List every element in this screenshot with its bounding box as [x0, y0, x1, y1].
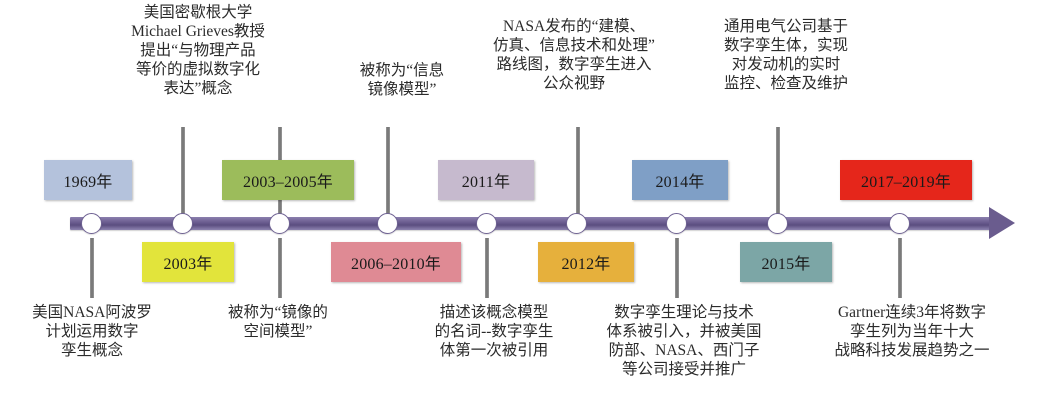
chip-2014[interactable]: 2014年	[632, 160, 728, 200]
timeline-node-2[interactable]	[172, 213, 193, 234]
timeline-node-9[interactable]	[889, 213, 910, 234]
caption-first-cited: 描述该概念模型 的名词--数字孪生 体第一次被引用	[404, 304, 584, 361]
timeline-node-5[interactable]	[476, 213, 497, 234]
caption-gartner: Gartner连续3年将数字 孪生列为当年十大 战略科技发展趋势之一	[798, 304, 1026, 361]
stem-ge-engine	[776, 127, 780, 215]
chip-1969[interactable]: 1969年	[44, 160, 132, 200]
caption-mirror-space-model: 被称为“镜像的 空间模型”	[192, 304, 364, 342]
chip-2017-2019[interactable]: 2017–2019年	[840, 160, 972, 200]
caption-grieves: 美国密歇根大学 Michael Grieves教授 提出“与物理产品 等价的虚拟…	[88, 4, 308, 99]
stem-grieves	[181, 127, 185, 215]
timeline-node-7[interactable]	[666, 213, 687, 234]
stem-gartner	[898, 238, 902, 298]
caption-theory-adoption: 数字孪生理论与技术 体系被引入，并被美国 防部、NASA、西门子 等公司接受并推…	[578, 304, 790, 380]
timeline-node-4[interactable]	[377, 213, 398, 234]
stem-first-cited	[485, 238, 489, 298]
timeline-node-1[interactable]	[81, 213, 102, 234]
caption-ge-engine: 通用电气公司基于 数字孪生体，实现 对发动机的实时 监控、检查及维护	[690, 18, 882, 94]
stem-nasa-roadmap	[386, 127, 390, 215]
timeline-node-6[interactable]	[566, 213, 587, 234]
stem-theory	[675, 238, 679, 298]
chip-2012[interactable]: 2012年	[538, 242, 634, 282]
stem-apollo	[90, 238, 94, 298]
chip-2011[interactable]: 2011年	[438, 160, 534, 200]
chip-2003[interactable]: 2003年	[142, 242, 234, 282]
timeline-diagram: 美国密歇根大学 Michael Grieves教授 提出“与物理产品 等价的虚拟…	[0, 0, 1038, 410]
timeline-node-3[interactable]	[269, 213, 290, 234]
caption-nasa-roadmap: NASA发布的“建模、 仿真、信息技术和处理” 路线图，数字孪生进入 公众视野	[455, 18, 693, 94]
right-arrow-icon	[989, 207, 1015, 239]
stem-public-view	[576, 127, 580, 215]
timeline-axis-bar	[70, 217, 992, 230]
timeline-node-8[interactable]	[767, 213, 788, 234]
stem-mirror-space-model	[278, 238, 282, 298]
chip-2006-2010[interactable]: 2006–2010年	[331, 242, 461, 282]
chip-2003-2005[interactable]: 2003–2005年	[222, 160, 354, 200]
chip-2015[interactable]: 2015年	[740, 242, 832, 282]
caption-apollo: 美国NASA阿波罗 计划运用数字 孪生概念	[6, 304, 178, 361]
